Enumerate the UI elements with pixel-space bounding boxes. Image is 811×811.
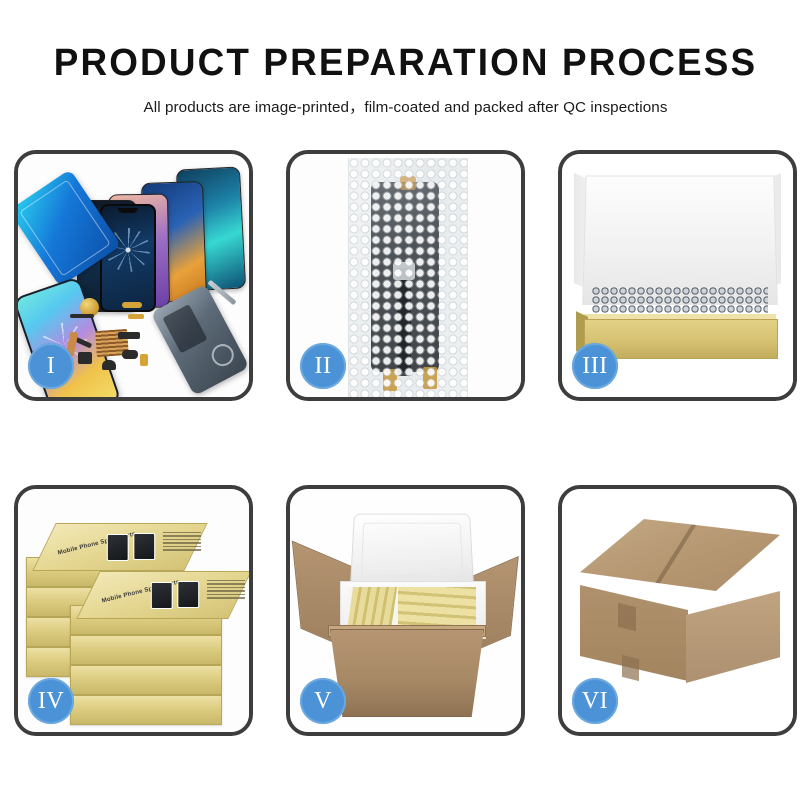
box-print-screen-b-rear (133, 533, 155, 560)
part-connector-gold (128, 314, 144, 319)
page-subtitle: All products are image-printed，film-coat… (0, 95, 811, 117)
box-print-screen-a-front (151, 582, 173, 609)
step-badge-ii: II (300, 343, 346, 389)
step-panel-i: I (14, 150, 253, 401)
step-panel-v: V (286, 485, 525, 736)
retail-box-top-rear: Mobile Phone Spare Parts (32, 523, 207, 571)
process-steps-grid: I II III (14, 150, 797, 736)
retail-box-top-front: Mobile Phone Spare Parts (76, 571, 249, 619)
part-camera (122, 350, 138, 359)
box-print-screen-b-front (177, 581, 199, 608)
step-badge-iii: III (572, 343, 618, 389)
carton-tape-upper (618, 603, 636, 631)
carton-body (330, 629, 484, 717)
part-strip (70, 314, 94, 318)
step-badge-v: V (300, 678, 346, 724)
part-cable-b (118, 332, 140, 339)
box-print-textlines-front (207, 580, 245, 602)
part-module-a (78, 352, 92, 364)
part-speaker (102, 360, 116, 370)
part-battery-tab (140, 354, 148, 366)
page-title: PRODUCT PREPARATION PROCESS (12, 44, 799, 82)
bubble-wrap-bag (348, 158, 468, 397)
carton-tape-lower (622, 655, 639, 681)
page-header: PRODUCT PREPARATION PROCESS All products… (0, 0, 811, 117)
bubble-texture (349, 158, 467, 397)
retail-box-front-3 (70, 665, 222, 695)
step-panel-ii: II (286, 150, 525, 401)
box-print-textlines-rear (163, 532, 201, 554)
step-badge-vi: VI (572, 678, 618, 724)
step-panel-iv: Mobile Phone Spare Parts Mobile Phone Sp… (14, 485, 253, 736)
step-badge-iv: IV (28, 678, 74, 724)
retail-box-front-2 (70, 635, 222, 665)
part-flex-gold (122, 302, 142, 308)
box-print-screen-a-rear (107, 534, 129, 561)
retail-box-front-4 (70, 695, 222, 725)
foam-box-lid (350, 514, 474, 587)
step-badge-i: I (28, 343, 74, 389)
screen-protector (100, 204, 156, 312)
step-panel-vi: VI (558, 485, 797, 736)
step-panel-iii: III (558, 150, 797, 401)
box-lid-open (582, 175, 777, 304)
